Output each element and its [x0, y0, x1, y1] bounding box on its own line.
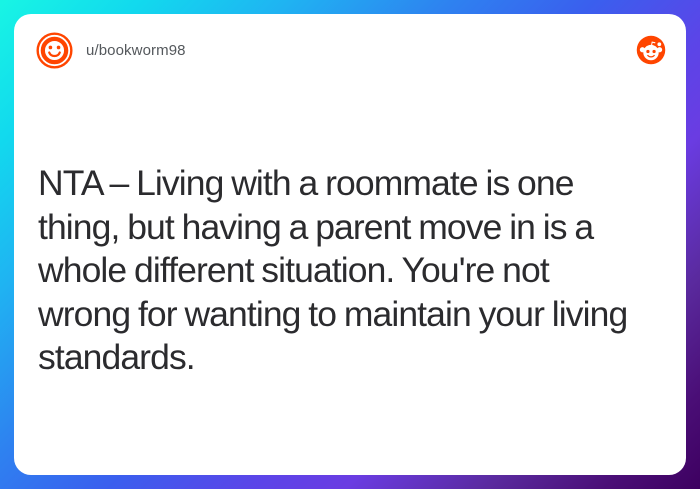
post-text: NTA – Living with a roommate is one thin… [38, 162, 648, 380]
reddit-post-screenshot: u/bookworm98 NTA – Living [0, 0, 700, 489]
username-label: u/bookworm98 [86, 42, 186, 59]
post-body: NTA – Living with a roommate is one thin… [38, 162, 648, 380]
reddit-snoo-logo-icon[interactable] [636, 35, 666, 65]
post-card: u/bookworm98 NTA – Living [14, 14, 686, 475]
smiley-face-avatar-icon[interactable] [36, 32, 73, 69]
post-header: u/bookworm98 [14, 14, 686, 86]
